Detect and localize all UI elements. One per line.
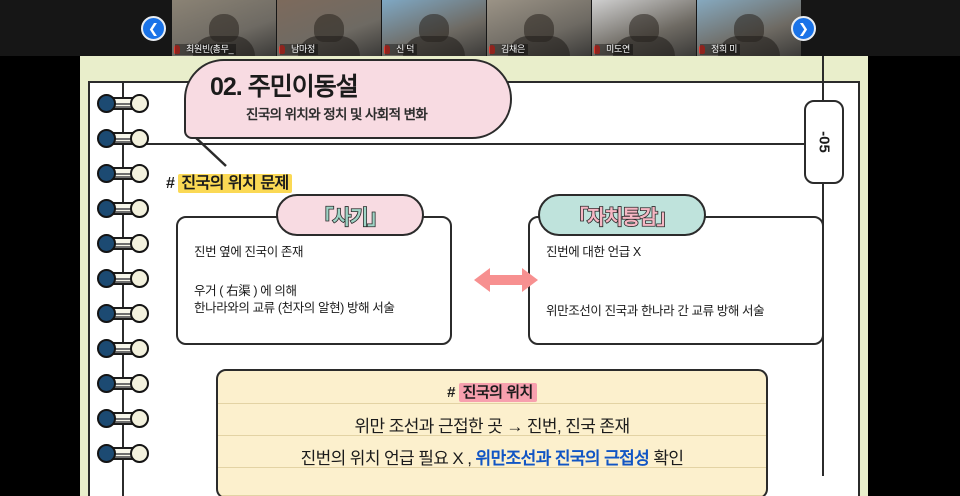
- participant-tile[interactable]: 신 덕: [382, 0, 486, 56]
- summary-line-2: 진번의 위치 언급 필요 X , 위만조선과 진국의 근접성 확인: [218, 444, 766, 469]
- source-card-jachitonggam-body: 진번에 대한 언급 X 위만조선이 진국과 한나라 간 교류 방해 서술: [546, 244, 810, 320]
- slide-title: 02. 주민이동설: [210, 67, 358, 103]
- source-label-jachitonggam: 「자치통감」: [538, 194, 706, 236]
- summary-line-1: 위만 조선과 근접한 곳 → 진번, 진국 존재: [218, 412, 766, 437]
- spiral-ring: [97, 444, 149, 463]
- source-label-sagi: 「사기」: [276, 194, 424, 236]
- spiral-ring: [97, 339, 149, 358]
- sagi-line-2: 우거 ( 右渠 ) 에 의해: [194, 283, 438, 300]
- spiral-ring: [97, 199, 149, 218]
- participant-tile[interactable]: 남마정: [277, 0, 381, 56]
- summary-heading: # 진국의 위치: [218, 381, 766, 402]
- section-heading-text: 진국의 위치 문제: [178, 174, 291, 193]
- source-label-jachitonggam-text: 「자치통감」: [568, 201, 676, 230]
- summary-box: # 진국의 위치 위만 조선과 근접한 곳 → 진번, 진국 존재 진번의 위치…: [216, 369, 768, 496]
- spiral-ring: [97, 304, 149, 323]
- spiral-ring: [97, 94, 149, 113]
- summary-heading-text: 진국의 위치: [459, 383, 537, 402]
- spiral-ring: [97, 164, 149, 183]
- slide-subtitle: 진국의 위치와 정치 및 사회적 변화: [246, 103, 427, 123]
- summary-line-2-a: 진번의 위치 언급 필요 X ,: [301, 449, 476, 468]
- summary-line-2-c: 확인: [649, 449, 683, 468]
- spiral-ring: [97, 374, 149, 393]
- jachi-line-2: 위만조선이 진국과 한나라 간 교류 방해 서술: [546, 303, 810, 320]
- spiral-ring: [97, 234, 149, 253]
- participant-tile[interactable]: 정희 미: [697, 0, 801, 56]
- source-label-sagi-text: 「사기」: [314, 201, 387, 230]
- page-number: -05: [816, 131, 833, 153]
- next-participants-button[interactable]: ❯: [791, 16, 816, 41]
- participant-tile[interactable]: 김채은: [487, 0, 591, 56]
- summary-heading-hash: #: [447, 384, 459, 401]
- presentation-slide: -05 02. 주민이동설 진국의 위치와 정치 및 사회적 변화 # 진국의 …: [80, 56, 868, 496]
- speech-bubble-tail: [192, 134, 238, 170]
- prev-participants-button[interactable]: ❮: [141, 16, 166, 41]
- spiral-ring: [97, 129, 149, 148]
- spiral-binding: [80, 56, 160, 496]
- page-number-tab: -05: [804, 100, 844, 184]
- participant-name: 정희 미: [700, 44, 740, 55]
- participant-tile[interactable]: 미도연: [592, 0, 696, 56]
- section-heading: # 진국의 위치 문제: [166, 169, 292, 193]
- spiral-ring: [97, 269, 149, 288]
- spiral-ring: [97, 409, 149, 428]
- participant-name: 미도연: [595, 44, 633, 55]
- participant-name: 최원빈(총무_: [175, 44, 236, 55]
- participant-name: 신 덕: [385, 44, 417, 55]
- sagi-line-3: 한나라와의 교류 (천자의 알현) 방해 서술: [194, 300, 438, 317]
- participant-name: 김채은: [490, 44, 528, 55]
- sagi-line-1: 진번 옆에 진국이 존재: [194, 244, 438, 261]
- double-arrow-horizontal-icon: [474, 264, 538, 296]
- jachi-line-1: 진번에 대한 언급 X: [546, 244, 810, 261]
- participant-name: 남마정: [280, 44, 318, 55]
- summary-line-2-highlight: 위만조선과 진국의 근접성: [476, 449, 650, 468]
- slide-title-bubble: 02. 주민이동설 진국의 위치와 정치 및 사회적 변화: [184, 59, 512, 139]
- participant-tile[interactable]: 최원빈(총무_: [172, 0, 276, 56]
- section-heading-hash: #: [166, 175, 178, 192]
- source-card-sagi-body: 진번 옆에 진국이 존재 우거 ( 右渠 ) 에 의해 한나라와의 교류 (천자…: [194, 244, 438, 317]
